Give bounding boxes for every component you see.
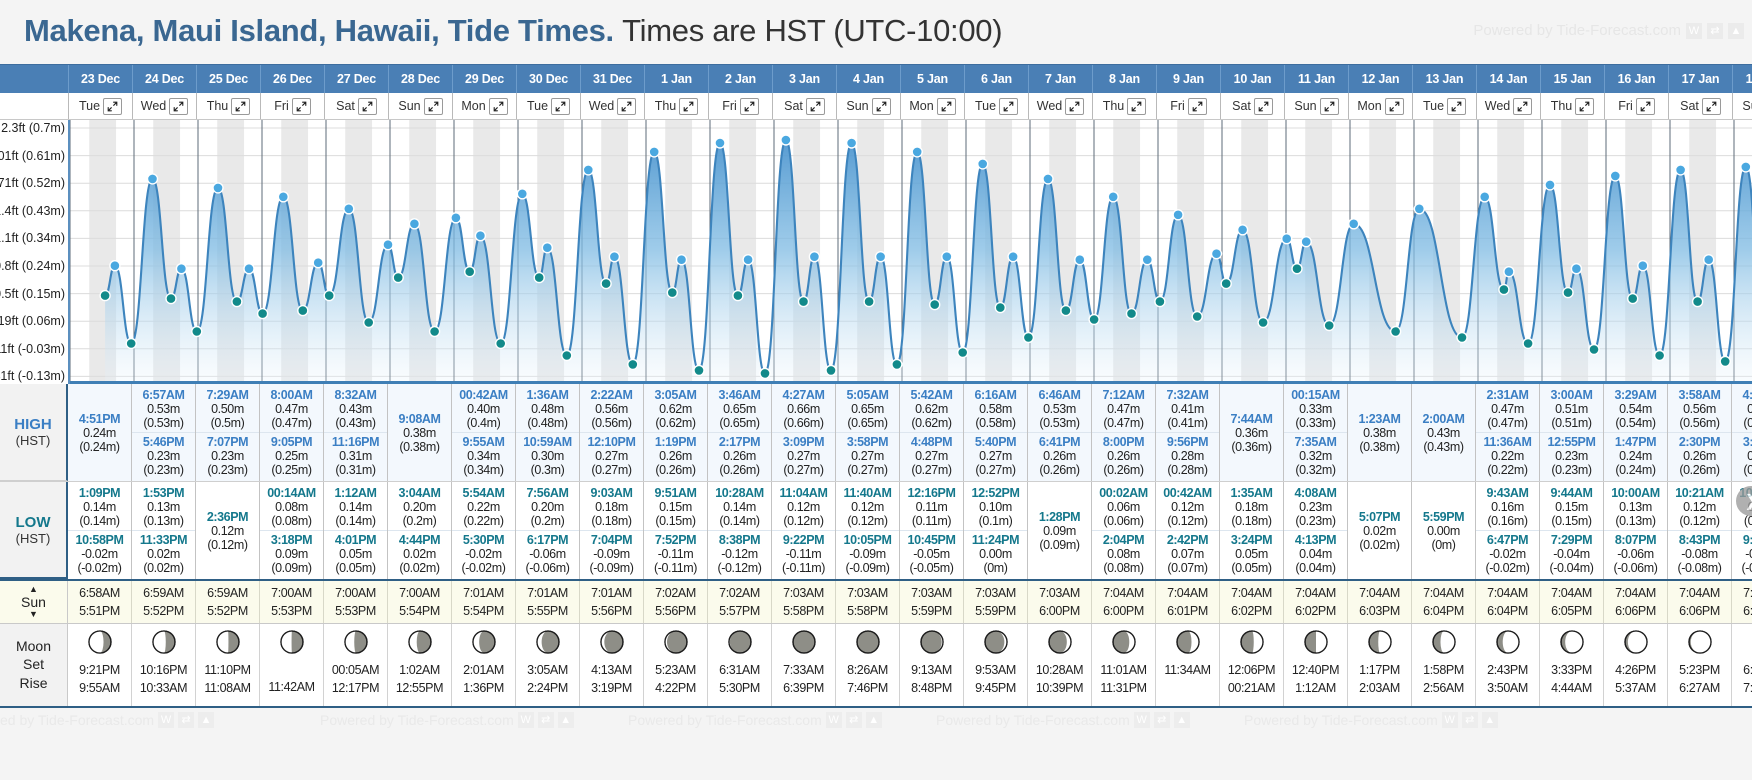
low-tide-time: 1:09PM — [68, 486, 131, 500]
high-tide-point[interactable] — [1282, 234, 1292, 244]
low-tide-point[interactable] — [995, 303, 1005, 313]
high-tide-event: 2:00AM0.43m(0.43m) — [1412, 410, 1475, 456]
low-tide-point[interactable] — [1023, 333, 1033, 343]
high-tide-event: 00:15AM0.33m(0.33m) — [1284, 386, 1347, 432]
low-tide-point[interactable] — [1061, 306, 1071, 316]
low-tide-height-alt: (-0.05m) — [900, 561, 963, 575]
high-tide-point[interactable] — [1638, 261, 1648, 271]
low-tide-event: 10:45PM-0.05m(-0.05m) — [900, 530, 963, 577]
date-cell[interactable]: 14 Jan — [1476, 65, 1540, 93]
low-tide-height: 0.02m — [388, 547, 451, 561]
sunrise-time: 7:04AM — [1679, 584, 1720, 602]
low-tide-time: 6:17PM — [516, 533, 579, 547]
low-tide-point[interactable] — [733, 291, 743, 301]
high-tide-point[interactable] — [609, 252, 619, 262]
weekday-cell: Thu — [197, 93, 261, 119]
moon-phase-icon — [1175, 629, 1201, 658]
high-tide-event: 6:16AM0.58m(0.58m) — [964, 386, 1027, 432]
low-tide-point[interactable] — [496, 339, 506, 349]
high-tide-event: 5:42AM0.62m(0.62m) — [900, 386, 963, 432]
sun-cell: 7:00AM5:53PM — [260, 581, 324, 623]
low-tide-time: 8:07PM — [1604, 533, 1667, 547]
low-tide-point[interactable] — [892, 359, 902, 369]
high-tide-time: 5:46PM — [132, 435, 195, 449]
expand-icon[interactable] — [292, 98, 311, 115]
low-tide-point[interactable] — [826, 365, 836, 375]
date-cell[interactable]: 17 Jan — [1668, 65, 1732, 93]
date-cell[interactable]: 28 Dec — [388, 65, 452, 93]
low-tide-time: 7:52PM — [644, 533, 707, 547]
high-tide-time: 5:05AM — [836, 388, 899, 402]
low-tide-point[interactable] — [930, 300, 940, 310]
high-tide-height-alt: (0.47m) — [1476, 416, 1539, 430]
sunset-time: 6:02PM — [1231, 602, 1272, 620]
high-tide-event: 4:48PM0.27m(0.27m) — [900, 432, 963, 479]
expand-icon[interactable] — [937, 98, 956, 115]
date-cell[interactable]: 27 Dec — [324, 65, 388, 93]
expand-icon[interactable] — [1636, 98, 1655, 115]
high-tide-height: 0.47m — [1476, 402, 1539, 416]
expand-icon[interactable] — [551, 98, 570, 115]
expand-icon[interactable] — [1702, 98, 1721, 115]
moon-cell: 3:33PM4:44AM — [1540, 624, 1604, 706]
low-tide-event: 00:42AM0.12m(0.12m) — [1156, 484, 1219, 530]
low-tide-height-alt: (-0.04m) — [1540, 561, 1603, 575]
sun-cell: 7:03AM5:58PM — [772, 581, 836, 623]
low-tide-point[interactable] — [534, 273, 544, 283]
sunrise-time: 7:03AM — [847, 584, 888, 602]
date-cell[interactable]: 1 Jan — [644, 65, 708, 93]
expand-icon[interactable] — [1385, 98, 1404, 115]
high-tide-cell: 7:29AM0.50m(0.5m)7:07PM0.23m(0.23m) — [196, 384, 260, 481]
date-cell[interactable]: 10 Jan — [1220, 65, 1284, 93]
expand-icon[interactable] — [1320, 98, 1339, 115]
windy-icon: W — [518, 712, 534, 728]
low-tide-event: 9:03AM0.18m(0.18m) — [580, 484, 643, 530]
windy-icon: W — [158, 712, 174, 728]
high-tide-point[interactable] — [1545, 180, 1555, 190]
low-tide-height-alt: (0.07m) — [1156, 561, 1219, 575]
low-tide-point[interactable] — [1499, 285, 1509, 295]
high-tide-point[interactable] — [1349, 219, 1359, 229]
low-tide-point[interactable] — [1089, 315, 1099, 325]
date-cell[interactable]: 4 Jan — [836, 65, 900, 93]
high-tide-cell: 00:15AM0.33m(0.33m)7:35AM0.32m(0.32m) — [1284, 384, 1348, 481]
low-tide-point[interactable] — [1457, 333, 1467, 343]
moon-cell: 3:05AM2:24PM — [516, 624, 580, 706]
high-tide-point[interactable] — [542, 243, 552, 253]
low-tide-height-alt: (0.18m) — [1220, 514, 1283, 528]
high-tide-event: 4:51PM0.24m(0.24m) — [68, 410, 131, 456]
low-tide-point[interactable] — [430, 327, 440, 337]
expand-icon[interactable] — [1575, 98, 1594, 115]
date-cell[interactable]: 8 Jan — [1092, 65, 1156, 93]
high-tide-event: 4:26AM0.57m(0.57m) — [1732, 386, 1752, 432]
high-tide-time: 9:55AM — [452, 435, 515, 449]
expand-icon[interactable] — [617, 98, 636, 115]
high-tide-point[interactable] — [1238, 225, 1248, 235]
high-tide-event: 8:32AM0.43m(0.43m) — [324, 386, 387, 432]
low-tide-time: 11:04AM — [772, 486, 835, 500]
low-tide-event: 5:07PM0.02m(0.02m) — [1348, 508, 1411, 554]
low-tide-point[interactable] — [1324, 321, 1334, 331]
low-tide-event: 3:18PM0.09m(0.09m) — [260, 530, 323, 577]
high-tide-height-alt: (0.56m) — [1668, 416, 1731, 430]
low-tide-time: 3:18PM — [260, 533, 323, 547]
expand-icon[interactable] — [231, 98, 250, 115]
low-tide-time: 3:04AM — [388, 486, 451, 500]
date-cell[interactable]: 11 Jan — [1284, 65, 1348, 93]
expand-icon[interactable] — [1254, 98, 1273, 115]
high-tide-point[interactable] — [876, 252, 886, 262]
high-tide-event: 3:46AM0.65m(0.65m) — [708, 386, 771, 432]
low-tide-point[interactable] — [1258, 318, 1268, 328]
low-tide-height-alt: (0.12m) — [836, 514, 899, 528]
low-tide-height-alt: (0.12m) — [772, 514, 835, 528]
high-tide-point[interactable] — [942, 252, 952, 262]
low-tide-row: LOW (HST) 1:09PM0.14m(0.14m)10:58PM-0.02… — [0, 482, 1752, 581]
low-tide-point[interactable] — [1391, 327, 1401, 337]
low-tide-event: 1:12AM0.14m(0.14m) — [324, 484, 387, 530]
low-tide-point[interactable] — [258, 309, 268, 319]
high-tide-point[interactable] — [213, 183, 223, 193]
date-cell[interactable]: 3 Jan — [772, 65, 836, 93]
low-tide-event: 12:52PM0.10m(0.1m) — [964, 484, 1027, 530]
low-tide-event: 00:02AM0.06m(0.06m) — [1092, 484, 1155, 530]
low-tide-time: 9:16PM — [1732, 533, 1752, 547]
high-tide-point[interactable] — [244, 264, 254, 274]
high-tide-point[interactable] — [1704, 255, 1714, 265]
low-tide-cell: 5:07PM0.02m(0.02m) — [1348, 482, 1412, 579]
high-tide-point[interactable] — [1212, 249, 1222, 259]
chart-plot-area[interactable] — [70, 120, 1752, 384]
sunrise-time: 7:04AM — [1487, 584, 1528, 602]
high-tide-point[interactable] — [278, 192, 288, 202]
sunset-time: 5:52PM — [143, 602, 184, 620]
high-tide-point[interactable] — [1108, 192, 1118, 202]
high-tide-label-title: HIGH — [14, 416, 52, 433]
high-tide-point[interactable] — [383, 240, 393, 250]
high-tide-point[interactable] — [1075, 255, 1085, 265]
moonrise-time: 10:33AM — [140, 679, 187, 697]
moonrise-time: 7:46PM — [847, 679, 888, 697]
weekday-cell: Tue — [965, 93, 1029, 119]
expand-icon[interactable] — [103, 98, 122, 115]
date-header-stub — [0, 65, 68, 93]
date-cell[interactable]: 30 Dec — [516, 65, 580, 93]
moon-cell: 1:17PM2:03AM — [1348, 624, 1412, 706]
weekday-cell: Fri — [1157, 93, 1221, 119]
high-tide-point[interactable] — [1504, 267, 1514, 277]
low-tide-point[interactable] — [1523, 339, 1533, 349]
low-tide-point[interactable] — [760, 368, 770, 378]
high-tide-point[interactable] — [110, 261, 120, 271]
low-tide-height-alt: (-0.09m) — [580, 561, 643, 575]
high-tide-point[interactable] — [1414, 204, 1424, 214]
low-tide-point[interactable] — [465, 267, 475, 277]
expand-icon[interactable] — [424, 98, 443, 115]
high-tide-point[interactable] — [743, 255, 753, 265]
high-tide-height-alt: (0.38m) — [1348, 440, 1411, 454]
date-cell[interactable]: 24 Dec — [132, 65, 196, 93]
high-tide-point[interactable] — [451, 213, 461, 223]
high-tide-point[interactable] — [1610, 171, 1620, 181]
high-tide-time: 5:40PM — [964, 435, 1027, 449]
high-tide-point[interactable] — [344, 204, 354, 214]
date-cell[interactable]: 16 Jan — [1604, 65, 1668, 93]
expand-icon[interactable] — [679, 98, 698, 115]
low-tide-event: 7:29PM-0.04m(-0.04m) — [1540, 530, 1603, 577]
high-tide-point[interactable] — [781, 135, 791, 145]
high-tide-row: HIGH (HST) 4:51PM0.24m(0.24m)6:57AM0.53m… — [0, 384, 1752, 482]
sun-cell: 7:04AM6:02PM — [1220, 581, 1284, 623]
moon-cell: 12:06PM00:21AM — [1220, 624, 1284, 706]
date-cell[interactable]: 2 Jan — [708, 65, 772, 93]
surf-icon: ▲ — [198, 712, 214, 728]
expand-icon[interactable] — [169, 98, 188, 115]
sunset-time: 6:00PM — [1103, 602, 1144, 620]
low-tide-cell: 11:04AM0.12m(0.12m)9:22PM-0.11m(-0.11m) — [772, 482, 836, 579]
high-tide-height-alt: (0.54m) — [1604, 416, 1667, 430]
low-tide-point[interactable] — [864, 297, 874, 307]
sunset-time: 6:04PM — [1487, 602, 1528, 620]
low-tide-height: 0.15m — [644, 500, 707, 514]
weekday-cell: Wed — [1029, 93, 1093, 119]
moon-phase-icon — [599, 629, 625, 658]
swap-icon: ⇄ — [1462, 712, 1478, 728]
low-tide-point[interactable] — [1127, 309, 1137, 319]
high-tide-height: 0.26m — [1028, 449, 1091, 463]
date-cell[interactable]: 7 Jan — [1028, 65, 1092, 93]
expand-icon[interactable] — [1447, 98, 1466, 115]
high-tide-time: 9:56PM — [1156, 435, 1219, 449]
low-tide-point[interactable] — [1221, 279, 1231, 289]
date-cell[interactable]: 25 Dec — [196, 65, 260, 93]
moon-cell: 10:16PM10:33AM — [132, 624, 196, 706]
high-tide-cell: 1:36AM0.48m(0.48m)10:59AM0.30m(0.3m) — [516, 384, 580, 481]
high-tide-height-alt: (0.36m) — [1220, 440, 1283, 454]
low-tide-point[interactable] — [1292, 264, 1302, 274]
low-tide-event: 3:24PM0.05m(0.05m) — [1220, 530, 1283, 577]
low-tide-point[interactable] — [1693, 297, 1703, 307]
low-tide-time: 00:14AM — [260, 486, 323, 500]
low-tide-point[interactable] — [667, 288, 677, 298]
sun-cell: 7:03AM6:00PM — [1028, 581, 1092, 623]
low-tide-point[interactable] — [1192, 312, 1202, 322]
low-tide-point[interactable] — [364, 318, 374, 328]
high-tide-point[interactable] — [978, 159, 988, 169]
low-tide-event: 7:04PM-0.09m(-0.09m) — [580, 530, 643, 577]
high-tide-event: 9:56PM0.28m(0.28m) — [1156, 432, 1219, 479]
high-tide-time: 7:12AM — [1092, 388, 1155, 402]
high-tide-point[interactable] — [1676, 165, 1686, 175]
high-tide-height-alt: (0.23m) — [132, 463, 195, 477]
high-tide-height-alt: (0.65m) — [708, 416, 771, 430]
sun-cell: 7:03AM5:59PM — [964, 581, 1028, 623]
low-tide-point[interactable] — [1589, 345, 1599, 355]
low-tide-time: 00:42AM — [1156, 486, 1219, 500]
moon-phase-icon — [1367, 629, 1393, 658]
high-tide-height: 0.66m — [772, 402, 835, 416]
surf-icon: ▲ — [1174, 712, 1190, 728]
weekday-cell: Wed — [1477, 93, 1541, 119]
high-tide-point[interactable] — [1480, 192, 1490, 202]
high-tide-point[interactable] — [1173, 210, 1183, 220]
low-tide-point[interactable] — [324, 291, 334, 301]
sunset-time: 6:06PM — [1679, 602, 1720, 620]
high-tide-point[interactable] — [847, 138, 857, 148]
date-cell[interactable]: 23 Dec — [68, 65, 132, 93]
chart-y-axis: 2.3ft (0.7m)2.01ft (0.61m)1.71ft (0.52m)… — [0, 120, 70, 384]
date-cell[interactable]: 5 Jan — [900, 65, 964, 93]
high-tide-point[interactable] — [912, 147, 922, 157]
low-tide-height-alt: (0.15m) — [644, 514, 707, 528]
high-tide-event: 12:10PM0.27m(0.27m) — [580, 432, 643, 479]
high-tide-point[interactable] — [1571, 264, 1581, 274]
high-tide-point[interactable] — [715, 138, 725, 148]
high-tide-event: 4:27AM0.66m(0.66m) — [772, 386, 835, 432]
high-tide-point[interactable] — [517, 189, 527, 199]
high-tide-point[interactable] — [148, 174, 158, 184]
date-cell[interactable]: 31 Dec — [580, 65, 644, 93]
low-tide-time: 5:07PM — [1348, 510, 1411, 524]
expand-icon[interactable] — [1513, 98, 1532, 115]
low-tide-point[interactable] — [958, 348, 968, 358]
high-tide-time: 8:32AM — [324, 388, 387, 402]
low-tide-height-alt: (-0.08m) — [1732, 561, 1752, 575]
high-tide-height: 0.47m — [260, 402, 323, 416]
high-tide-height-alt: (0.34m) — [452, 463, 515, 477]
high-tide-cell: 3:05AM0.62m(0.62m)1:19PM0.26m(0.26m) — [644, 384, 708, 481]
high-tide-event: 10:59AM0.30m(0.3m) — [516, 432, 579, 479]
weekday-label: Fri — [1170, 99, 1185, 113]
low-tide-point[interactable] — [126, 339, 136, 349]
high-tide-time: 3:00AM — [1540, 388, 1603, 402]
expand-icon[interactable] — [806, 98, 825, 115]
low-tide-point[interactable] — [562, 351, 572, 361]
high-tide-point[interactable] — [1301, 237, 1311, 247]
high-tide-point[interactable] — [1008, 252, 1018, 262]
weekday-cell: Tue — [517, 93, 581, 119]
high-tide-time: 3:46AM — [708, 388, 771, 402]
date-cell[interactable]: 15 Jan — [1540, 65, 1604, 93]
low-tide-point[interactable] — [393, 273, 403, 283]
sunrise-time: 7:00AM — [399, 584, 440, 602]
low-tide-event: 9:43AM0.16m(0.16m) — [1476, 484, 1539, 530]
moon-phase-icon — [919, 629, 945, 658]
page-title-sub: Times are HST (UTC-10:00) — [622, 13, 1002, 48]
low-tide-point[interactable] — [1155, 297, 1165, 307]
date-cell[interactable]: 18 Jan — [1732, 65, 1752, 93]
low-tide-point[interactable] — [100, 291, 110, 301]
expand-icon[interactable] — [1127, 98, 1146, 115]
high-tide-height: 0.27m — [900, 449, 963, 463]
sunset-time: 5:52PM — [207, 602, 248, 620]
high-tide-point[interactable] — [475, 231, 485, 241]
low-tide-event: 10:28AM0.14m(0.14m) — [708, 484, 771, 530]
moon-phase-icon — [663, 629, 689, 658]
low-tide-point[interactable] — [799, 297, 809, 307]
low-tide-point[interactable] — [1655, 351, 1665, 361]
high-tide-event: 00:42AM0.40m(0.4m) — [452, 386, 515, 432]
expand-icon[interactable] — [740, 98, 759, 115]
high-tide-height-alt: (0.26m) — [1668, 463, 1731, 477]
expand-icon[interactable] — [872, 98, 891, 115]
low-tide-point[interactable] — [694, 365, 704, 375]
low-tide-cell: 9:03AM0.18m(0.18m)7:04PM-0.09m(-0.09m) — [580, 482, 644, 579]
high-tide-cell: 00:42AM0.40m(0.4m)9:55AM0.34m(0.34m) — [452, 384, 516, 481]
low-tide-point[interactable] — [166, 294, 176, 304]
low-tide-event: 1:53PM0.13m(0.13m) — [132, 484, 195, 530]
expand-icon[interactable] — [489, 98, 508, 115]
high-tide-point[interactable] — [649, 147, 659, 157]
high-tide-point[interactable] — [1142, 255, 1152, 265]
high-tide-point[interactable] — [677, 255, 687, 265]
sun-label-text: Sun — [21, 595, 46, 609]
low-tide-time: 9:22PM — [772, 533, 835, 547]
low-tide-time: 10:05PM — [836, 533, 899, 547]
weekday-label: Mon — [909, 99, 933, 113]
low-tide-point[interactable] — [601, 279, 611, 289]
low-tide-point[interactable] — [628, 359, 638, 369]
low-tide-height: 0.00m — [964, 547, 1027, 561]
expand-icon[interactable] — [358, 98, 377, 115]
high-tide-point[interactable] — [176, 264, 186, 274]
low-tide-event: 2:42PM0.07m(0.07m) — [1156, 530, 1219, 577]
expand-icon[interactable] — [1188, 98, 1207, 115]
high-tide-point[interactable] — [1741, 162, 1751, 172]
high-tide-height-alt: (0.27m) — [772, 463, 835, 477]
date-cell[interactable]: 29 Dec — [452, 65, 516, 93]
high-tide-point[interactable] — [409, 219, 419, 229]
date-cell[interactable]: 12 Jan — [1348, 65, 1412, 93]
moon-phase-icon — [1431, 629, 1457, 658]
sunrise-time: 7:04AM — [1167, 584, 1208, 602]
high-tide-time: 5:42AM — [900, 388, 963, 402]
high-tide-height-alt: (0.26m) — [644, 463, 707, 477]
expand-icon[interactable] — [1065, 98, 1084, 115]
moonrise-time: 11:42AM — [268, 678, 314, 696]
low-tide-point[interactable] — [1628, 294, 1638, 304]
moonrise-time: 1:36PM — [463, 679, 504, 697]
high-tide-point[interactable] — [809, 252, 819, 262]
low-tide-height: 0.10m — [964, 500, 1027, 514]
low-tide-point[interactable] — [192, 327, 202, 337]
sunset-time: 6:05PM — [1551, 602, 1592, 620]
high-tide-point[interactable] — [313, 258, 323, 268]
high-tide-point[interactable] — [1043, 174, 1053, 184]
moon-cell: 6:31AM5:30PM — [708, 624, 772, 706]
high-tide-height-alt: (0.65m) — [836, 416, 899, 430]
low-tide-point[interactable] — [1720, 356, 1730, 366]
low-tide-point[interactable] — [232, 297, 242, 307]
date-cell[interactable]: 26 Dec — [260, 65, 324, 93]
high-tide-cell: 8:32AM0.43m(0.43m)11:16PM0.31m(0.31m) — [324, 384, 388, 481]
windy-icon: W — [1134, 712, 1150, 728]
high-tide-time: 10:59AM — [516, 435, 579, 449]
low-tide-point[interactable] — [1563, 288, 1573, 298]
moonset-time: 10:16PM — [140, 661, 187, 679]
date-cell[interactable]: 9 Jan — [1156, 65, 1220, 93]
sunrise-time: 7:03AM — [1039, 584, 1080, 602]
low-tide-event: 9:51AM0.15m(0.15m) — [644, 484, 707, 530]
high-tide-event: 3:29AM0.54m(0.54m) — [1604, 386, 1667, 432]
date-cell[interactable]: 13 Jan — [1412, 65, 1476, 93]
low-tide-point[interactable] — [298, 306, 308, 316]
date-cell[interactable]: 6 Jan — [964, 65, 1028, 93]
expand-icon[interactable] — [999, 98, 1018, 115]
high-tide-point[interactable] — [583, 165, 593, 175]
